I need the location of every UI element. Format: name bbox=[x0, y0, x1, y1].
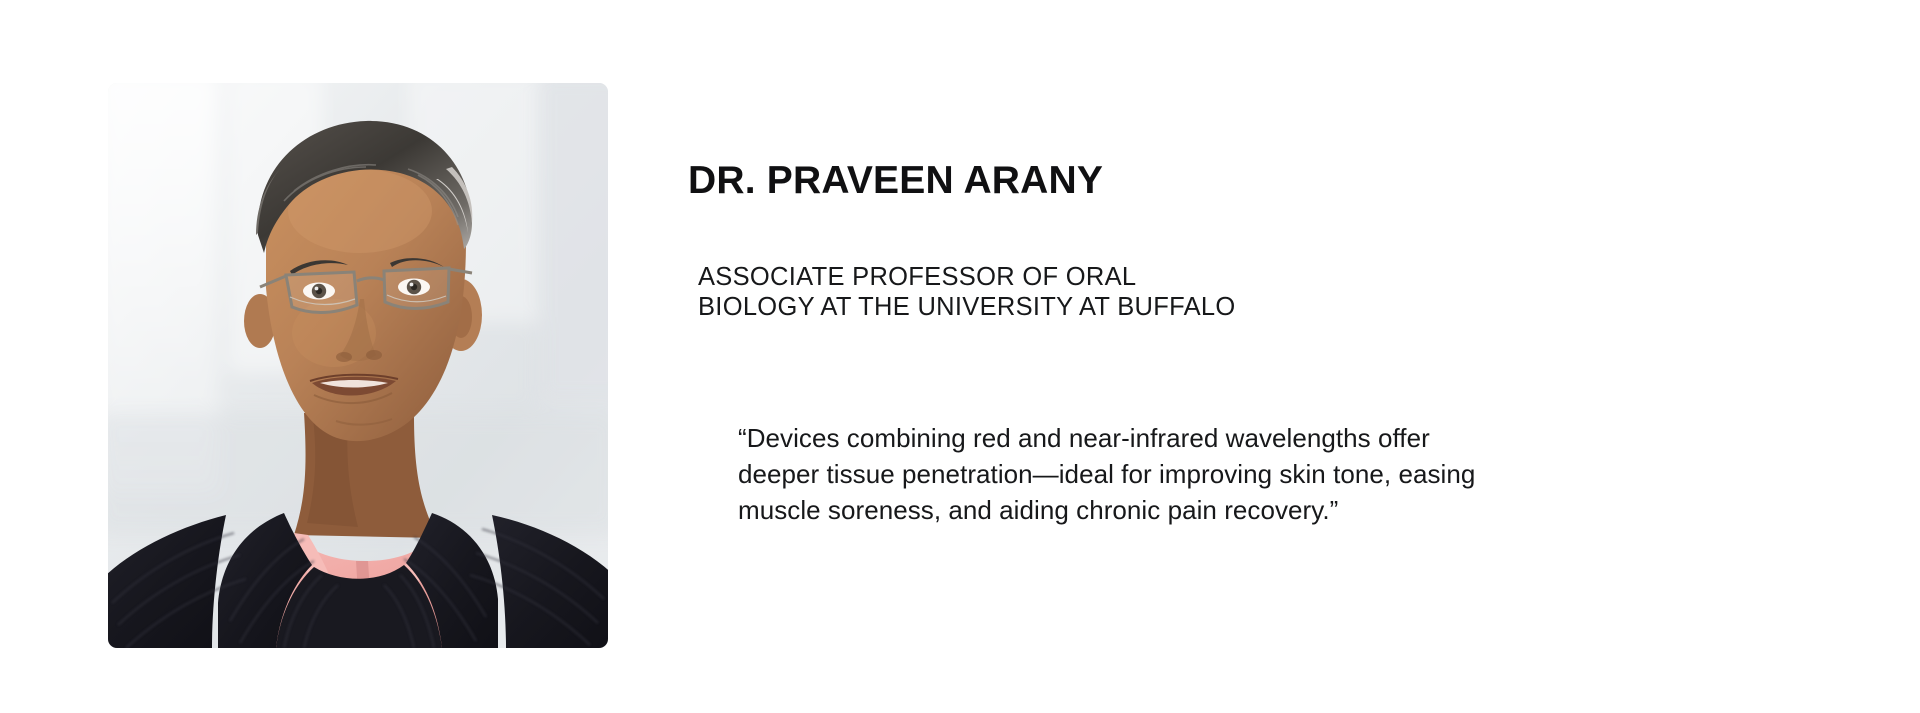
person-quote-line-1: “Devices combining red and near-infrared… bbox=[738, 420, 1718, 456]
expert-text-column: DR. PRAVEEN ARANY ASSOCIATE PROFESSOR OF… bbox=[688, 0, 1788, 713]
person-title: ASSOCIATE PROFESSOR OF ORAL BIOLOGY AT T… bbox=[698, 262, 1598, 322]
expert-quote-card: DR. PRAVEEN ARANY ASSOCIATE PROFESSOR OF… bbox=[0, 0, 1920, 713]
portrait-illustration bbox=[108, 83, 608, 648]
person-title-line-2: BIOLOGY AT THE UNIVERSITY AT BUFFALO bbox=[698, 292, 1598, 322]
person-name: DR. PRAVEEN ARANY bbox=[688, 158, 1103, 204]
portrait-photo bbox=[108, 83, 608, 648]
person-title-line-1: ASSOCIATE PROFESSOR OF ORAL bbox=[698, 262, 1598, 292]
person-quote: “Devices combining red and near-infrared… bbox=[738, 420, 1718, 528]
person-quote-line-2: deeper tissue penetration—ideal for impr… bbox=[738, 456, 1718, 492]
person-quote-line-3: muscle soreness, and aiding chronic pain… bbox=[738, 492, 1718, 528]
